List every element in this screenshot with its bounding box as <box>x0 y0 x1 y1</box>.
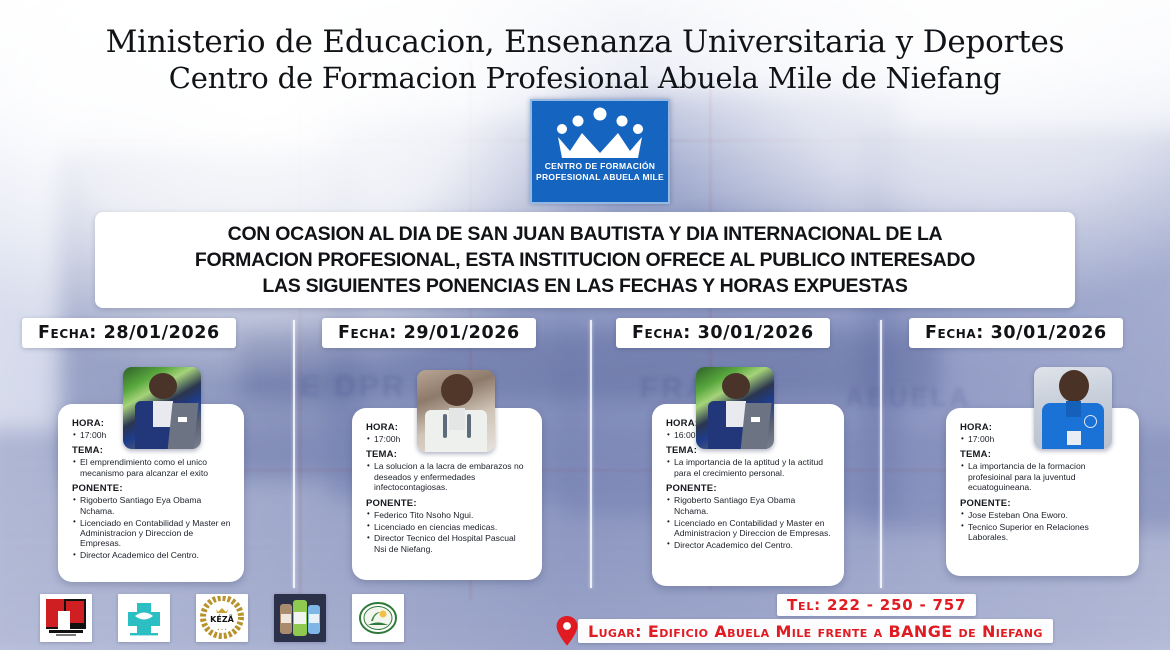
ponente-item: Licenciado en Contabilidad y Master en A… <box>72 518 232 549</box>
ponente-item: Licenciado en ciencias medicas. <box>366 522 530 532</box>
speaker-photo-3 <box>696 367 774 449</box>
poster-header: Ministerio de Educacion, Ensenanza Unive… <box>0 24 1170 96</box>
session-date-label: Fecha: 28/01/2026 <box>38 323 220 343</box>
institution-logo: CENTRO DE FORMACIÓN PROFESIONAL ABUELA M… <box>530 99 670 204</box>
speaker-photo-1 <box>123 367 201 449</box>
location-chip: Lugar: Edificio Abuela Mile frente a BAN… <box>578 619 1053 643</box>
ponente-item: Federico Tito Nsoho Ngui. <box>366 510 530 520</box>
session-column-2: Fecha: 29/01/2026 HORA: 17:00h TEMA: La … <box>297 312 589 592</box>
location-pin-icon <box>556 616 578 646</box>
ponente-item: Rigoberto Santiago Eya Obama Nchama. <box>72 495 232 516</box>
tema-item: La solucion a la lacra de embarazos no d… <box>366 461 530 492</box>
tema-list: La importancia de la formacion profesioi… <box>960 461 1127 492</box>
announcement-banner: CON OCASION AL DIA DE SAN JUAN BAUTISTA … <box>95 212 1075 308</box>
announcement-line-2: FORMACION PROFESIONAL, ESTA INSTITUCION … <box>195 247 975 273</box>
column-divider-1 <box>293 320 295 588</box>
ponente-item: Director Tecnico del Hospital Pascual Ns… <box>366 533 530 554</box>
tema-item: La importancia de la aptitud y la actitu… <box>666 457 832 478</box>
ponente-item: Director Academico del Centro. <box>72 550 232 560</box>
column-divider-2 <box>590 320 592 588</box>
ponente-item: Tecnico Superior en Relaciones Laborales… <box>960 522 1127 543</box>
logo-text-line1: CENTRO DE FORMACIÓN <box>536 161 664 172</box>
sessions-grid: Fecha: 28/01/2026 HORA: 17:00h TEMA: El … <box>0 312 1170 592</box>
sponsor-logos: KÉZÃ • • • <box>40 594 404 642</box>
ponente-label: PONENTE: <box>666 483 832 494</box>
tema-item: La importancia de la formacion profesioi… <box>960 461 1127 492</box>
svg-text:KÉZÃ: KÉZÃ <box>210 613 234 624</box>
ponente-item: Director Academico del Centro. <box>666 540 832 550</box>
sponsor-logo-pharmacy <box>118 594 170 642</box>
session-date-label: Fecha: 30/01/2026 <box>925 323 1107 343</box>
session-date-chip: Fecha: 28/01/2026 <box>22 318 236 348</box>
speaker-photo-2 <box>417 370 495 452</box>
telephone-chip: Tel: 222 - 250 - 757 <box>777 594 976 616</box>
telephone-label: Tel: 222 - 250 - 757 <box>787 596 966 614</box>
location-label: Lugar: Edificio Abuela Mile frente a BAN… <box>588 622 1043 641</box>
ponente-label: PONENTE: <box>960 498 1127 509</box>
session-column-1: Fecha: 28/01/2026 HORA: 17:00h TEMA: El … <box>0 312 292 592</box>
ponente-list: Rigoberto Santiago Eya Obama Nchama. Lic… <box>72 495 232 560</box>
sponsor-logo-mambuku <box>352 594 404 642</box>
ministry-title: Ministerio de Educacion, Ensenanza Unive… <box>0 24 1170 60</box>
sponsor-logo-bottles <box>274 594 326 642</box>
ponente-list: Federico Tito Nsoho Ngui. Licenciado en … <box>366 510 530 555</box>
speaker-photo-4 <box>1034 367 1112 449</box>
ponente-item: Rigoberto Santiago Eya Obama Nchama. <box>666 495 832 516</box>
tema-list: La importancia de la aptitud y la actitu… <box>666 457 832 478</box>
session-date-chip: Fecha: 30/01/2026 <box>616 318 830 348</box>
session-column-4: Fecha: 30/01/2026 HORA: 17:00h TEMA: La … <box>884 312 1170 592</box>
tema-list: El emprendimiento como el unico mecanism… <box>72 457 232 478</box>
session-date-chip: Fecha: 30/01/2026 <box>909 318 1123 348</box>
ponente-list: Jose Esteban Ona Eworo. Tecnico Superior… <box>960 510 1127 543</box>
ponente-item: Jose Esteban Ona Eworo. <box>960 510 1127 520</box>
sponsor-logo-np <box>40 594 92 642</box>
announcement-line-1: CON OCASION AL DIA DE SAN JUAN BAUTISTA … <box>228 221 943 247</box>
poster-footer: KÉZÃ • • • <box>0 592 1170 650</box>
session-date-label: Fecha: 29/01/2026 <box>338 323 520 343</box>
center-title: Centro de Formacion Profesional Abuela M… <box>0 60 1170 96</box>
ponente-list: Rigoberto Santiago Eya Obama Nchama. Lic… <box>666 495 832 550</box>
logo-text-line2: PROFESIONAL ABUELA MILE <box>536 172 664 183</box>
poster-canvas: E DPR FRAM ABUELA Ministerio de Educacio… <box>0 0 1170 650</box>
ponente-item: Licenciado en Contabilidad y Master en A… <box>666 518 832 539</box>
svg-text:• • •: • • • <box>217 627 227 632</box>
sponsor-logo-keza: KÉZÃ • • • <box>196 594 248 642</box>
ponente-label: PONENTE: <box>366 498 530 509</box>
column-divider-3 <box>880 320 882 588</box>
session-date-chip: Fecha: 29/01/2026 <box>322 318 536 348</box>
tema-list: La solucion a la lacra de embarazos no d… <box>366 461 530 492</box>
crown-icon <box>552 107 648 159</box>
session-column-3: Fecha: 30/01/2026 HORA: 16:00h TEMA: La … <box>594 312 886 592</box>
tema-label: TEMA: <box>960 449 1127 460</box>
session-date-label: Fecha: 30/01/2026 <box>632 323 814 343</box>
ponente-label: PONENTE: <box>72 483 232 494</box>
announcement-line-3: LAS SIGUIENTES PONENCIAS EN LAS FECHAS Y… <box>262 273 907 299</box>
tema-item: El emprendimiento como el unico mecanism… <box>72 457 232 478</box>
